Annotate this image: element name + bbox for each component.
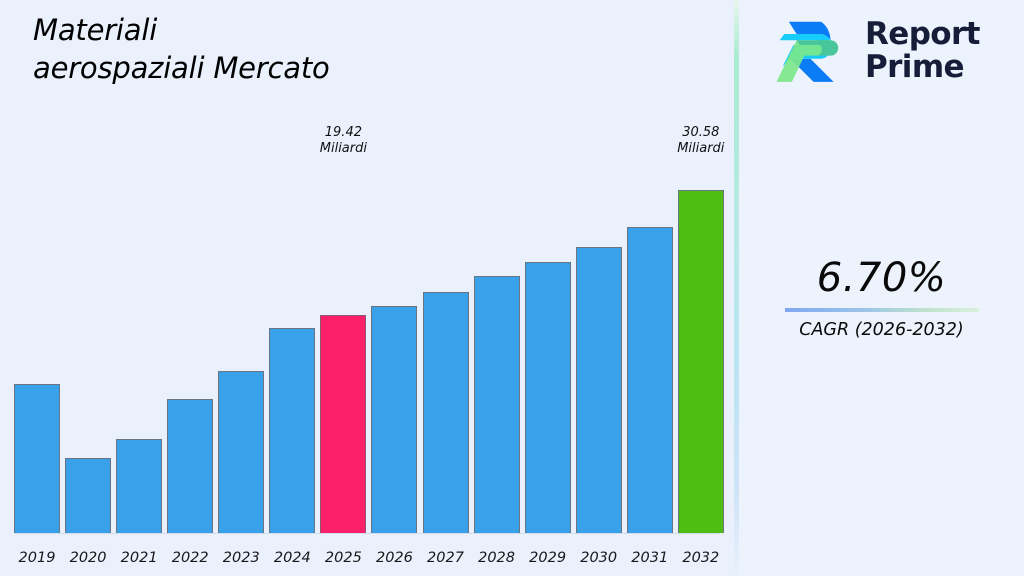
bar-2032[interactable]: 30.58 Miliardi xyxy=(678,190,724,533)
bar-2019[interactable] xyxy=(14,384,60,533)
bar-slot xyxy=(14,163,60,533)
cagr-divider xyxy=(785,308,979,312)
bar-slot xyxy=(116,163,162,533)
chart-panel: Materiali aerospaziali Mercato 19.42 Mil… xyxy=(0,0,735,576)
brand-panel: Report Prime 6.70% CAGR (2026-2032) xyxy=(739,0,1024,576)
bar-slot xyxy=(371,163,417,533)
bar-2027[interactable] xyxy=(423,292,469,533)
bar-slot: 30.58 Miliardi xyxy=(678,163,724,533)
x-axis-line xyxy=(14,533,720,534)
x-tick-2023: 2023 xyxy=(218,550,264,566)
bar-slot xyxy=(627,163,673,533)
bar-slot xyxy=(423,163,469,533)
page-title: Materiali aerospaziali Mercato xyxy=(33,11,513,88)
x-tick-2026: 2026 xyxy=(371,550,417,566)
x-tick-2032: 2032 xyxy=(678,550,724,566)
bar-2023[interactable] xyxy=(218,371,264,533)
bar-slot: 19.42 Miliardi xyxy=(320,163,366,533)
x-tick-2019: 2019 xyxy=(14,550,60,566)
x-axis-tick-labels: 2019202020212022202320242025202620272028… xyxy=(14,550,724,566)
infographic-page: Materiali aerospaziali Mercato 19.42 Mil… xyxy=(0,0,1024,576)
cagr-value: 6.70% xyxy=(739,255,1024,301)
bar-slot xyxy=(576,163,622,533)
bar-2026[interactable] xyxy=(371,306,417,533)
bar-2020[interactable] xyxy=(65,458,111,533)
bar-value-label-2025: 19.42 Miliardi xyxy=(297,125,389,157)
bar-2030[interactable] xyxy=(576,247,622,533)
x-tick-2028: 2028 xyxy=(474,550,520,566)
bar-slot xyxy=(167,163,213,533)
bar-2025[interactable]: 19.42 Miliardi xyxy=(320,315,366,533)
cagr-caption: CAGR (2026-2032) xyxy=(739,320,1024,340)
bar-series: 19.42 Miliardi30.58 Miliardi xyxy=(14,163,724,533)
bar-2021[interactable] xyxy=(116,439,162,533)
x-tick-2022: 2022 xyxy=(167,550,213,566)
brand-name: Report Prime xyxy=(865,18,980,85)
bar-slot xyxy=(65,163,111,533)
bar-2028[interactable] xyxy=(474,276,520,533)
bar-slot xyxy=(474,163,520,533)
cagr-block: 6.70% CAGR (2026-2032) xyxy=(739,255,1024,340)
x-tick-2024: 2024 xyxy=(269,550,315,566)
bar-2022[interactable] xyxy=(167,399,213,533)
x-tick-2021: 2021 xyxy=(116,550,162,566)
bar-2024[interactable] xyxy=(269,328,315,533)
bar-slot xyxy=(525,163,571,533)
bar-2029[interactable] xyxy=(525,262,571,533)
x-tick-2029: 2029 xyxy=(525,550,571,566)
x-tick-2025: 2025 xyxy=(320,550,366,566)
plot-area: 19.42 Miliardi30.58 Miliardi 20192020202… xyxy=(0,120,735,576)
x-tick-2031: 2031 xyxy=(627,550,673,566)
bar-2031[interactable] xyxy=(627,227,673,533)
bar-slot xyxy=(269,163,315,533)
bar-slot xyxy=(218,163,264,533)
brand-logo: Report Prime xyxy=(773,14,980,88)
x-tick-2020: 2020 xyxy=(65,550,111,566)
x-tick-2027: 2027 xyxy=(423,550,469,566)
report-prime-r-logo-icon xyxy=(773,14,851,88)
bar-value-label-2032: 30.58 Miliardi xyxy=(655,125,747,157)
x-tick-2030: 2030 xyxy=(576,550,622,566)
